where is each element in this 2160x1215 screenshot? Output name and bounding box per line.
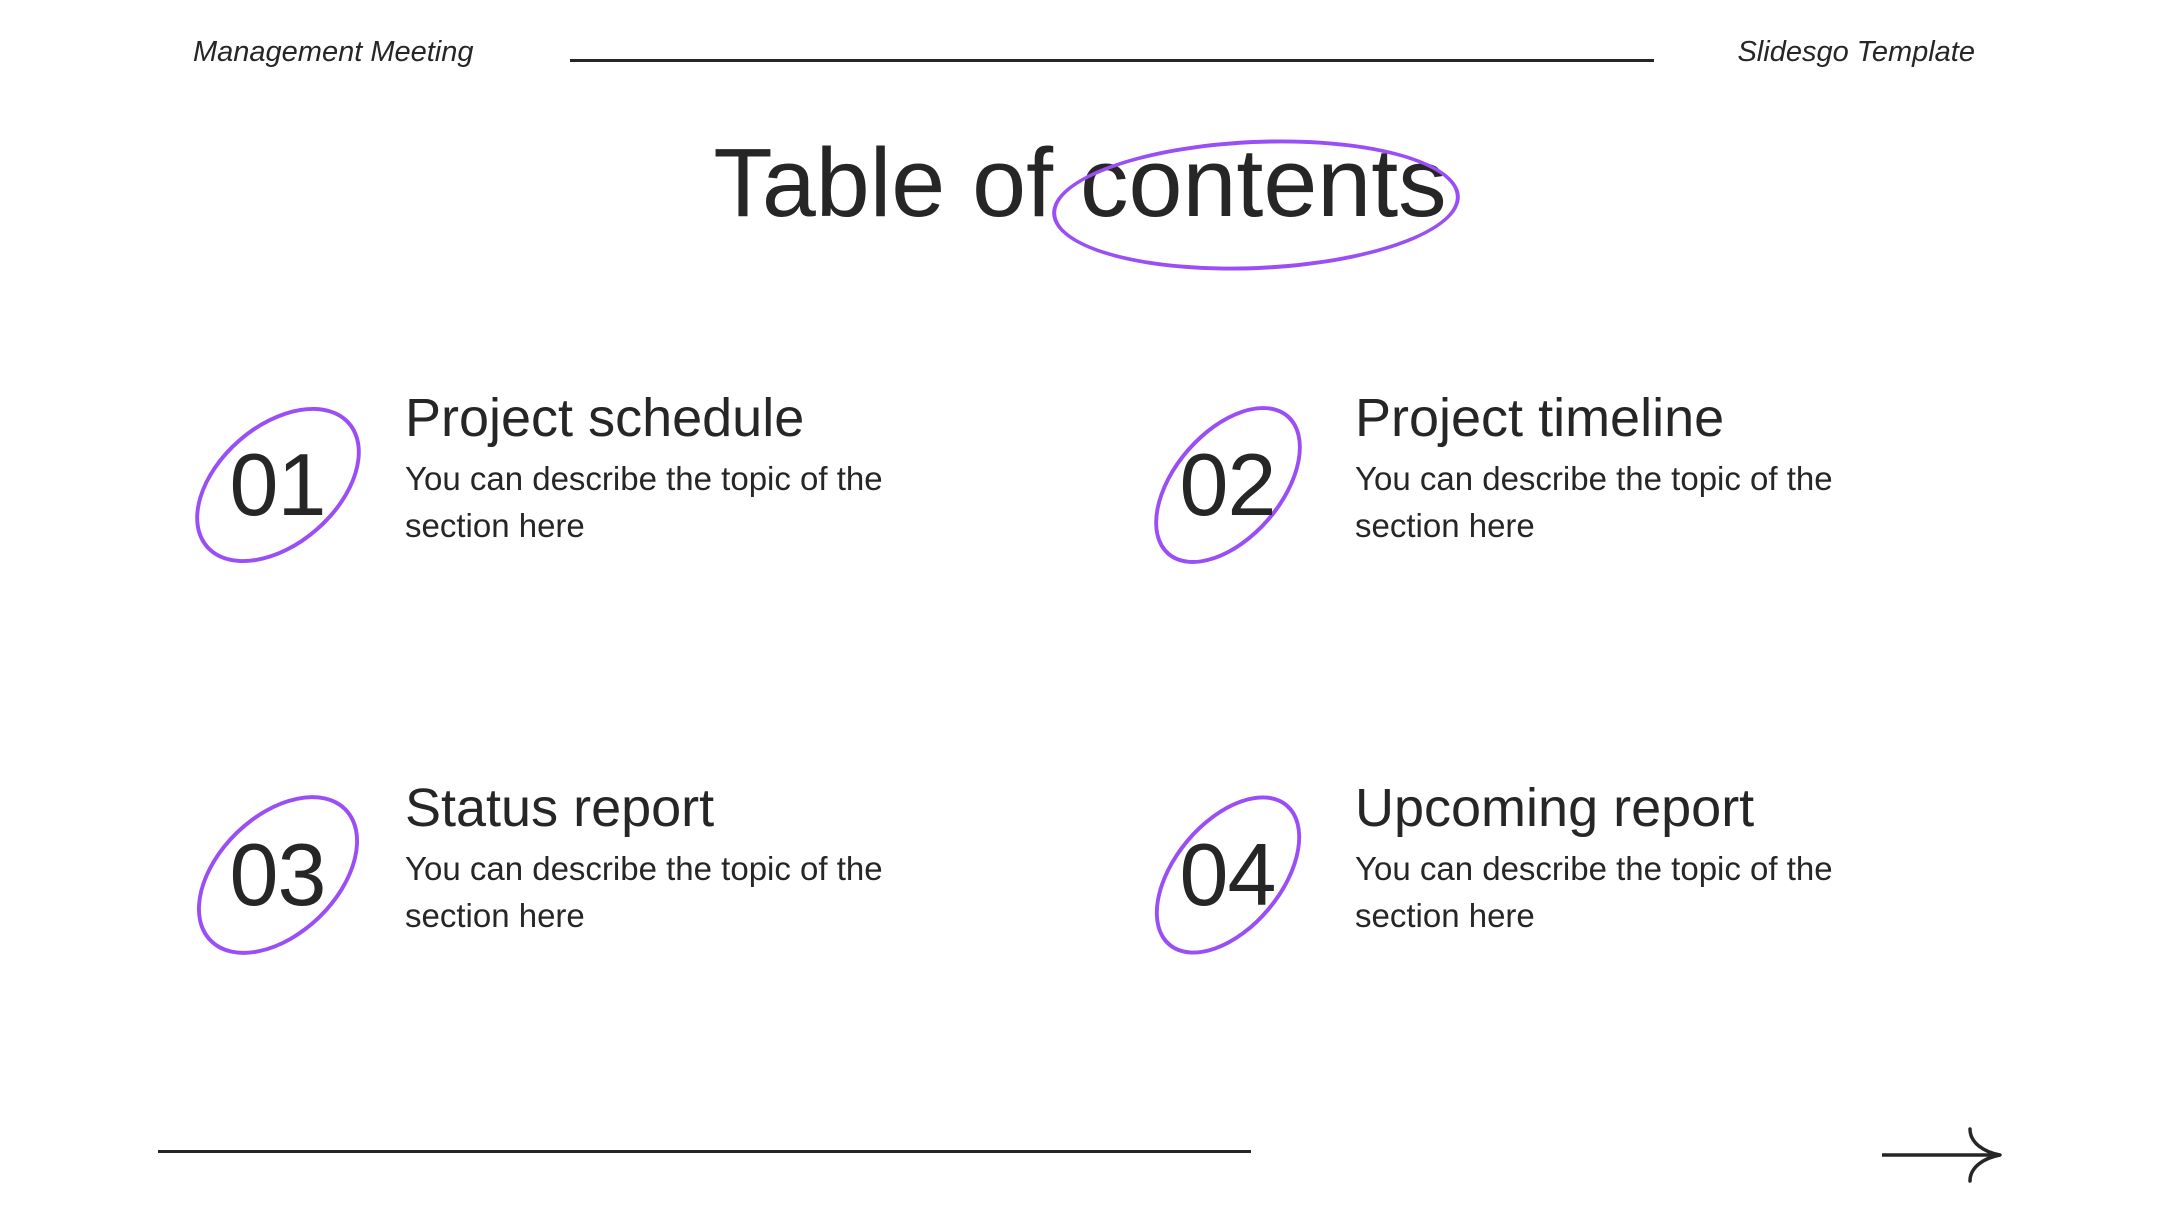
contents-item-02[interactable]: 02 Project timeline You can describe the… — [1125, 390, 1975, 660]
header-right-label: Slidesgo Template — [1737, 35, 1975, 70]
number-badge-03: 03 — [175, 780, 380, 970]
item-description: You can describe the topic of the sectio… — [405, 456, 965, 550]
footer-divider — [158, 1150, 1251, 1153]
arrow-right-icon[interactable] — [1880, 1125, 2030, 1185]
item-number: 04 — [1125, 780, 1330, 970]
item-number: 02 — [1125, 390, 1330, 580]
slide: Management Meeting Slidesgo Template Tab… — [0, 0, 2160, 1215]
item-number: 01 — [175, 390, 380, 580]
number-badge-02: 02 — [1125, 390, 1330, 580]
item-description: You can describe the topic of the sectio… — [405, 846, 965, 940]
item-title: Status report — [405, 778, 1025, 838]
item-text-block: Project schedule You can describe the to… — [405, 388, 1025, 550]
item-title: Project timeline — [1355, 388, 1975, 448]
item-description: You can describe the topic of the sectio… — [1355, 846, 1915, 940]
arrow-right-glyph — [1880, 1125, 2030, 1185]
item-text-block: Upcoming report You can describe the top… — [1355, 778, 1975, 940]
item-text-block: Project timeline You can describe the to… — [1355, 388, 1975, 550]
contents-grid: 01 Project schedule You can describe the… — [0, 390, 2160, 1000]
item-title: Project schedule — [405, 388, 1025, 448]
header-divider — [570, 59, 1654, 62]
contents-item-01[interactable]: 01 Project schedule You can describe the… — [175, 390, 1025, 660]
contents-item-04[interactable]: 04 Upcoming report You can describe the … — [1125, 780, 1975, 1050]
item-text-block: Status report You can describe the topic… — [405, 778, 1025, 940]
contents-item-03[interactable]: 03 Status report You can describe the to… — [175, 780, 1025, 1050]
number-badge-01: 01 — [175, 390, 380, 580]
item-description: You can describe the topic of the sectio… — [1355, 456, 1915, 550]
item-title: Upcoming report — [1355, 778, 1975, 838]
number-badge-04: 04 — [1125, 780, 1330, 970]
header-left-label: Management Meeting — [193, 35, 474, 70]
title-highlight-ellipse — [1049, 131, 1462, 279]
item-number: 03 — [175, 780, 380, 970]
